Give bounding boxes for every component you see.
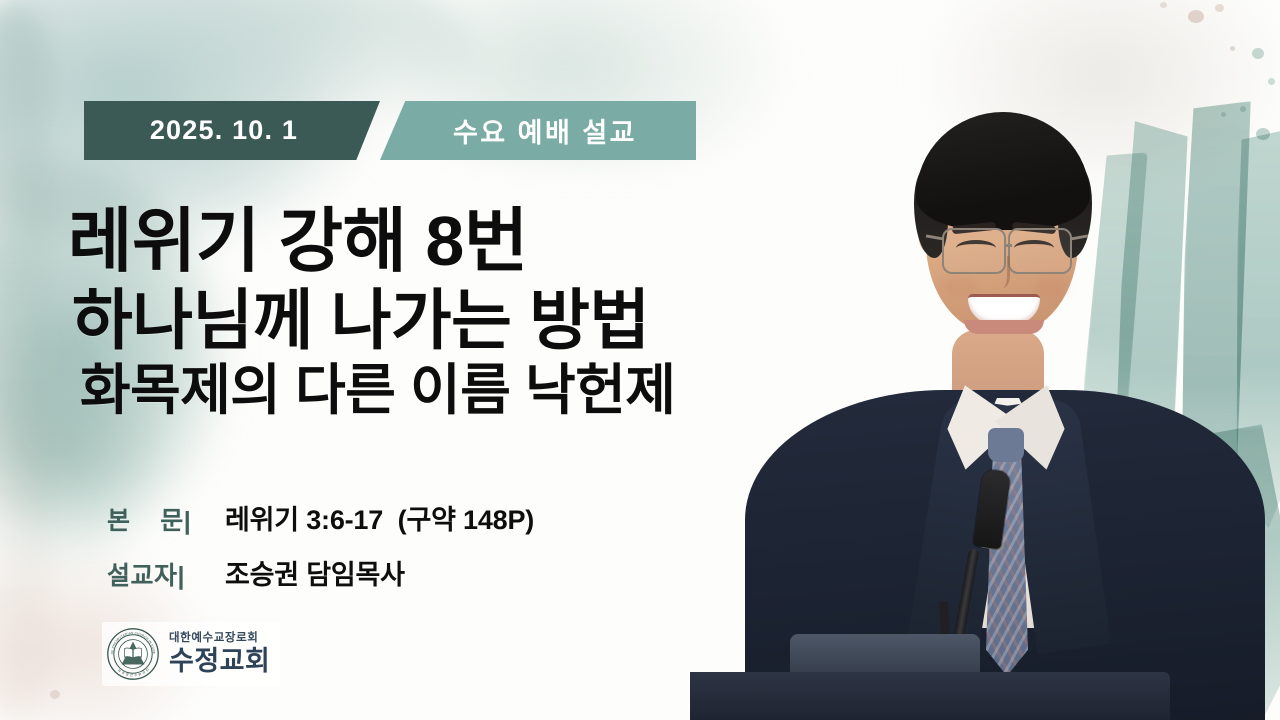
church-name: 수정교회 [169,648,270,675]
meta-row-scripture: 본 문| 레위기 3:6-17 (구약 148P) [107,498,534,537]
sermon-title-line-2: 하나님께 나가는 방법 [72,287,788,353]
speaker-glasses-bridge [1004,244,1012,247]
scripture-reference: 레위기 3:6-17 (구약 148P) [225,498,534,537]
sermon-date: 2025. 10. 1 [150,115,298,146]
denomination-name: 대한예수교장로회 [169,633,270,645]
banner-service-type-chip: 수요 예배 설교 [380,101,696,160]
scripture-label: 본 문| [107,501,225,537]
meta-row-preacher: 설교자| 조승권 담임목사 [107,553,534,592]
speaker-hair [916,112,1090,230]
sermon-title-line-3: 화목제의 다른 이름 낙헌제 [80,363,788,418]
service-type-label: 수요 예배 설교 [453,111,637,150]
preacher-name: 조승권 담임목사 [225,553,405,592]
speaker-nose [992,256,1010,288]
background-speck [50,690,60,699]
presbyterian-church-seal-icon: THE PRESBYTERIAN CHURCH IN KOREA 대한예수교장로… [106,627,160,681]
sermon-title-line-1: 레위기 강해 8번 [68,206,788,276]
sermon-meta-block: 본 문| 레위기 3:6-17 (구약 148P) 설교자| 조승권 담임목사 [107,498,534,608]
speaker-lower-lip [964,320,1044,334]
speaker-glasses-lens-right [1008,228,1072,274]
church-logo: THE PRESBYTERIAN CHURCH IN KOREA 대한예수교장로… [102,622,280,686]
header-banner: 2025. 10. 1 수요 예배 설교 [84,101,696,160]
podium [690,672,1170,720]
speaker-cheek-right [1034,276,1068,298]
preacher-label: 설교자| [107,556,225,592]
sermon-title-block: 레위기 강해 8번 하나님께 나가는 방법 화목제의 다른 이름 낙헌제 [68,206,788,418]
speaker-necktie-knot [988,428,1024,462]
church-logo-text: 대한예수교장로회 수정교회 [169,633,270,675]
sermon-title-slide: 2025. 10. 1 수요 예배 설교 레위기 강해 8번 하나님께 나가는 … [0,0,1280,720]
banner-date-chip: 2025. 10. 1 [84,101,380,160]
